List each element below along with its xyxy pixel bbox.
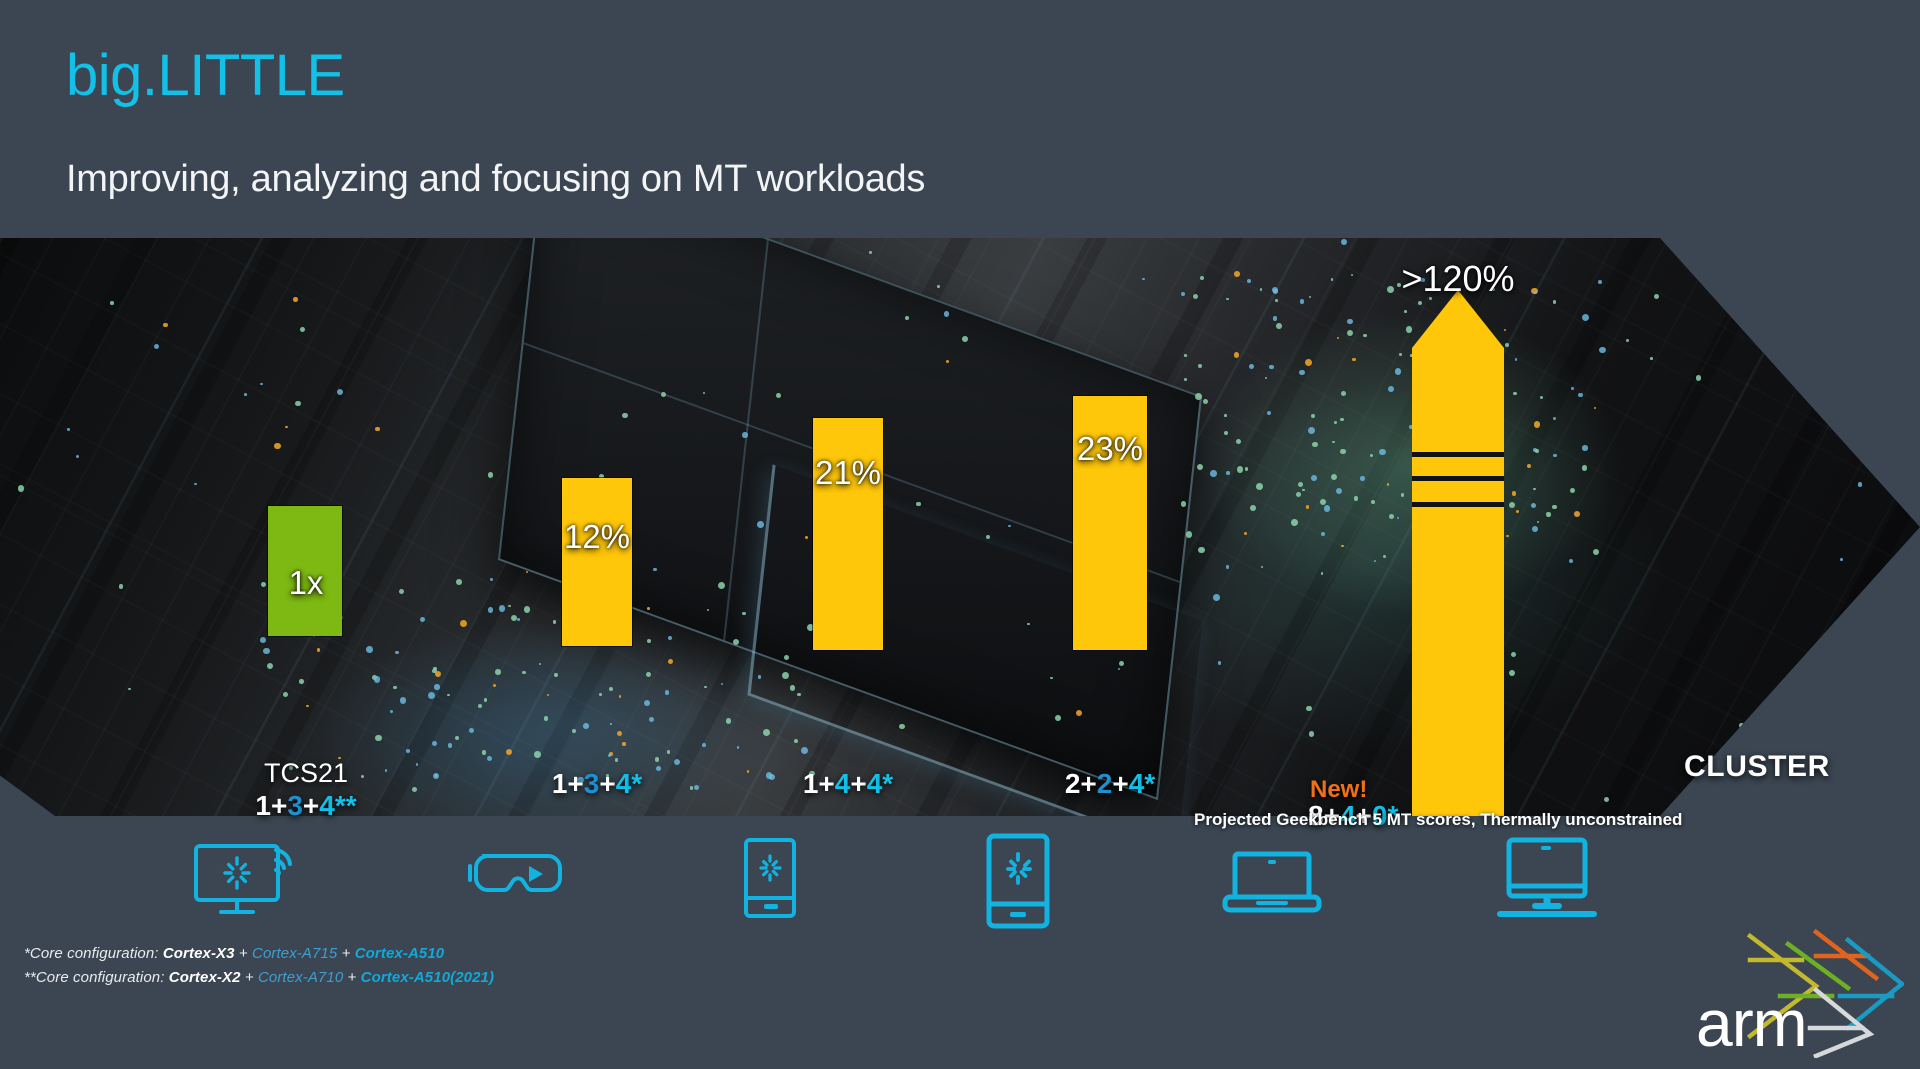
bar-value-12pct: 12% <box>537 518 657 556</box>
bar-value-21pct: 21% <box>788 454 908 492</box>
footnote2-little-core: Cortex-A510(2021) <box>361 969 494 986</box>
footnotes: *Core configuration: Cortex-X3 + Cortex-… <box>24 942 494 990</box>
config-part-0: 1 <box>552 768 568 799</box>
footnote2-plus-1: + <box>241 969 258 986</box>
config-part-3: + <box>1112 768 1128 799</box>
footnote2-mid-core: Cortex-A710 <box>258 969 343 986</box>
config-part-5: ** <box>335 790 357 821</box>
bar-value-120pct: >120% <box>1378 258 1538 300</box>
page-title: big.LITTLE <box>66 46 345 107</box>
footnote1-big-core: Cortex-X3 <box>163 945 235 962</box>
axis-break-line-3 <box>1412 502 1504 507</box>
device-item-smart-tv[interactable] <box>190 832 300 918</box>
bar-config-12pct: 1+3+4* <box>527 768 667 800</box>
device-icon-strip <box>0 832 1920 950</box>
config-part-0: 1 <box>803 768 819 799</box>
config-part-5: * <box>882 768 893 799</box>
footnote2-prefix: **Core configuration: <box>24 969 169 986</box>
footnote1-mid-core: Cortex-A715 <box>252 945 337 962</box>
config-part-3: + <box>599 768 615 799</box>
geekbench-note: Projected Geekbench 5 MT scores, Thermal… <box>1194 810 1682 830</box>
config-part-4: 4 <box>616 768 632 799</box>
bar-value-23pct: 23% <box>1048 430 1172 468</box>
config-part-2: 3 <box>584 768 600 799</box>
smartphone-small-icon <box>746 840 794 916</box>
bar-config-21pct: 1+4+4* <box>778 768 918 800</box>
cluster-label: CLUSTER <box>1684 750 1830 784</box>
bar-21pct <box>813 418 883 650</box>
axis-break-line-2 <box>1412 476 1504 481</box>
laptop-icon <box>1225 854 1319 910</box>
footnote1-plus-2: + <box>337 945 354 962</box>
arm-logo: arm <box>1688 928 1904 1058</box>
slide-header: big.LITTLE Improving, analyzing and focu… <box>0 0 1920 238</box>
slide-root: big.LITTLE Improving, analyzing and focu… <box>0 0 1920 1069</box>
bar-12pct <box>562 478 632 646</box>
config-part-1: + <box>1080 768 1096 799</box>
footnote-line-1: *Core configuration: Cortex-X3 + Cortex-… <box>24 942 494 966</box>
page-subtitle: Improving, analyzing and focusing on MT … <box>66 158 925 201</box>
device-item-smartphone-small[interactable] <box>742 836 798 920</box>
config-part-4: 4 <box>319 790 335 821</box>
bar-chart: 1x TCS21 1+3+4** 12% 1+3+4* 21% 1+4+4* 2… <box>0 238 1920 816</box>
config-part-5: * <box>1144 768 1155 799</box>
footnote1-little-core: Cortex-A510 <box>355 945 444 962</box>
footnote2-plus-2: + <box>343 969 360 986</box>
config-part-2: 4 <box>835 768 851 799</box>
bar-120pct-arrow <box>1412 290 1504 816</box>
arrow-head-shape <box>1412 290 1504 816</box>
config-part-0: 2 <box>1065 768 1081 799</box>
smart-tv-wifi-icon <box>190 832 300 918</box>
bar-config-tcs21: 1+3+4** <box>228 790 384 822</box>
config-part-1: + <box>567 768 583 799</box>
device-item-smartphone-large[interactable] <box>985 832 1051 930</box>
footnote-line-2: **Core configuration: Cortex-X2 + Cortex… <box>24 966 494 990</box>
bar-sublabel-tcs21: TCS21 <box>238 758 374 789</box>
bar-value-tcs21: 1x <box>248 564 364 602</box>
footnote2-big-core: Cortex-X2 <box>169 969 241 986</box>
config-part-3: + <box>850 768 866 799</box>
smartphone-large-icon <box>989 836 1047 926</box>
device-item-vr-headset[interactable] <box>468 846 562 908</box>
config-part-5: * <box>631 768 642 799</box>
vr-headset-icon <box>470 856 560 890</box>
footnote1-prefix: *Core configuration: <box>24 945 163 962</box>
config-part-1: + <box>818 768 834 799</box>
arm-wordmark: arm <box>1696 990 1807 1056</box>
config-part-4: 4 <box>1129 768 1145 799</box>
device-item-laptop[interactable] <box>1222 846 1322 914</box>
config-part-0: 1 <box>255 790 271 821</box>
config-part-1: + <box>271 790 287 821</box>
bar-config-23pct: 2+2+4* <box>1038 768 1182 800</box>
footnote1-plus-1: + <box>235 945 252 962</box>
axis-break-line-1 <box>1412 452 1504 457</box>
config-part-3: + <box>303 790 319 821</box>
config-part-2: 2 <box>1097 768 1113 799</box>
config-part-2: 3 <box>287 790 303 821</box>
device-item-desktop-monitor[interactable] <box>1497 836 1597 920</box>
config-part-4: 4 <box>867 768 883 799</box>
desktop-monitor-icon <box>1500 840 1594 914</box>
